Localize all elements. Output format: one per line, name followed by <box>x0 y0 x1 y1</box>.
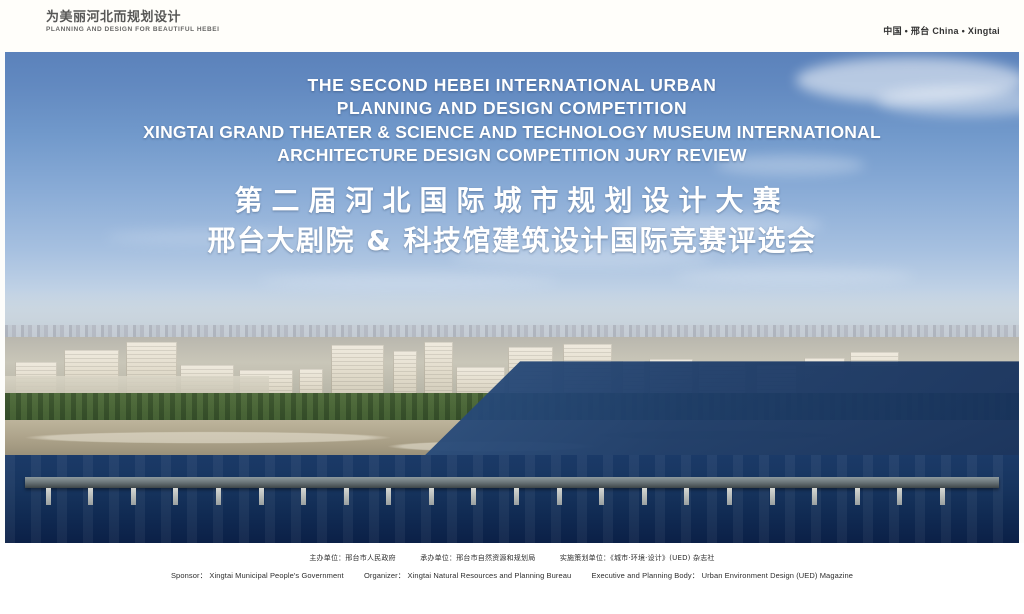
credits-chinese: 主办单位：邢台市人民政府 承办单位：邢台市自然资源和规划局 实施策划单位：《城市… <box>0 553 1024 563</box>
brand-title-cn: 为美丽河北而规划设计 <box>46 10 219 24</box>
bridge-pier <box>301 488 306 505</box>
credit-executive-en: Executive and Planning Body： Urban Envir… <box>592 571 854 580</box>
hero-aerial-photo: THE SECOND HEBEI INTERNATIONAL URBAN PLA… <box>5 52 1019 543</box>
bridge-pier <box>855 488 860 505</box>
bridge-pier <box>46 488 51 505</box>
bridge-pier <box>88 488 93 505</box>
credit-organizer-en: Organizer： Xingtai Natural Resources and… <box>364 571 571 580</box>
bridge-pier <box>684 488 689 505</box>
credit-sponsor-en: Sponsor： Xingtai Municipal People's Gove… <box>171 571 344 580</box>
bridge-pier <box>940 488 945 505</box>
title-en-line-1: THE SECOND HEBEI INTERNATIONAL URBAN <box>5 74 1019 97</box>
title-en-line-2: PLANNING AND DESIGN COMPETITION <box>5 97 1019 120</box>
bridge-pier <box>344 488 349 505</box>
bridge-pier <box>173 488 178 505</box>
credit-organizer-cn: 承办单位：邢台市自然资源和规划局 <box>420 554 535 562</box>
credit-sponsor-cn: 主办单位：邢台市人民政府 <box>309 554 395 562</box>
brand-lockup: 为美丽河北而规划设计 PLANNING AND DESIGN FOR BEAUT… <box>46 10 219 33</box>
cloud-shape <box>674 268 914 284</box>
credits-english: Sponsor： Xingtai Municipal People's Gove… <box>0 570 1024 581</box>
bridge-pier <box>429 488 434 505</box>
presentation-slide: 为美丽河北而规划设计 PLANNING AND DESIGN FOR BEAUT… <box>0 0 1024 614</box>
bridge-pier <box>599 488 604 505</box>
bridge-deck <box>25 477 998 489</box>
bridge-pier <box>897 488 902 505</box>
bridge-pier <box>770 488 775 505</box>
title-en-line-4: ARCHITECTURE DESIGN COMPETITION JURY REV… <box>5 144 1019 167</box>
bridge-pier <box>386 488 391 505</box>
bridge-pier <box>727 488 732 505</box>
brand-title-en: PLANNING AND DESIGN FOR BEAUTIFUL HEBEI <box>46 27 219 34</box>
bridge-pier <box>131 488 136 505</box>
title-en-line-3: XINGTAI GRAND THEATER & SCIENCE AND TECH… <box>5 121 1019 144</box>
river-layer <box>5 455 1019 543</box>
apartment-block <box>424 342 453 400</box>
location-label: 中国 • 邢台 China • Xingtai <box>883 24 1000 37</box>
slide-header: 为美丽河北而规划设计 PLANNING AND DESIGN FOR BEAUT… <box>0 0 1024 52</box>
title-block: THE SECOND HEBEI INTERNATIONAL URBAN PLA… <box>5 52 1019 260</box>
bridge-pier <box>216 488 221 505</box>
bridge-pier <box>642 488 647 505</box>
slide-footer: 主办单位：邢台市人民政府 承办单位：邢台市自然资源和规划局 实施策划单位：《城市… <box>0 543 1024 614</box>
title-chinese-line-1: 第二届河北国际城市规划设计大赛 <box>5 183 1019 219</box>
title-chinese-line-2: 邢台大剧院 & 科技馆建筑设计国际竞赛评选会 <box>5 223 1019 259</box>
bridge-pier <box>812 488 817 505</box>
credit-executive-cn: 实施策划单位：《城市·环境·设计》(UED) 杂志社 <box>560 554 715 562</box>
bridge-pier <box>514 488 519 505</box>
bridge-pier <box>557 488 562 505</box>
title-english: THE SECOND HEBEI INTERNATIONAL URBAN PLA… <box>5 74 1019 167</box>
bridge-pier <box>259 488 264 505</box>
bridge-pier <box>471 488 476 505</box>
cloud-shape <box>259 273 559 289</box>
